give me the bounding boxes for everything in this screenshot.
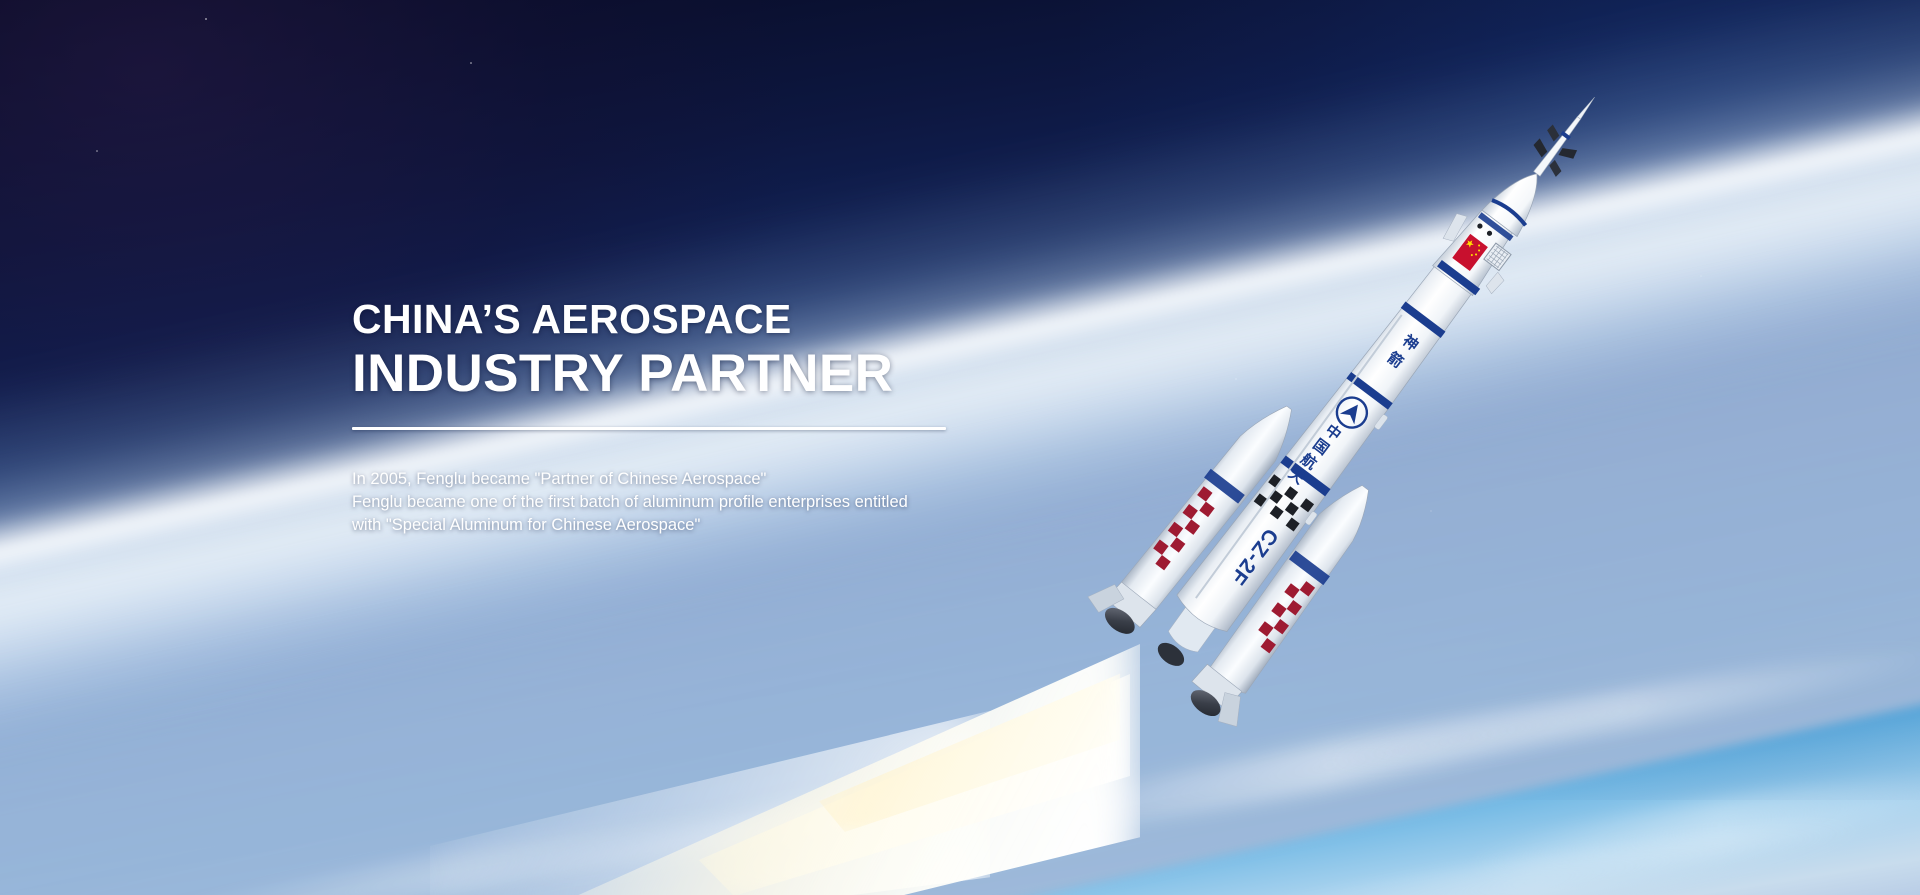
description-line: with "Special Aluminum for Chinese Aeros… <box>352 514 1052 537</box>
title-divider <box>352 427 946 430</box>
page-title-line1: CHINA’S AEROSPACE <box>352 298 1052 341</box>
page-title-line2: INDUSTRY PARTNER <box>352 344 1052 403</box>
description-line: Fenglu became one of the first batch of … <box>352 491 1052 514</box>
hero-copy-block: CHINA’S AEROSPACE INDUSTRY PARTNER In 20… <box>352 298 1052 536</box>
description-line: In 2005, Fenglu became "Partner of Chine… <box>352 468 1052 491</box>
hero-description: In 2005, Fenglu became "Partner of Chine… <box>352 468 1052 536</box>
aerospace-hero-banner: 神 箭 中 国 航 天 <box>0 0 1920 895</box>
